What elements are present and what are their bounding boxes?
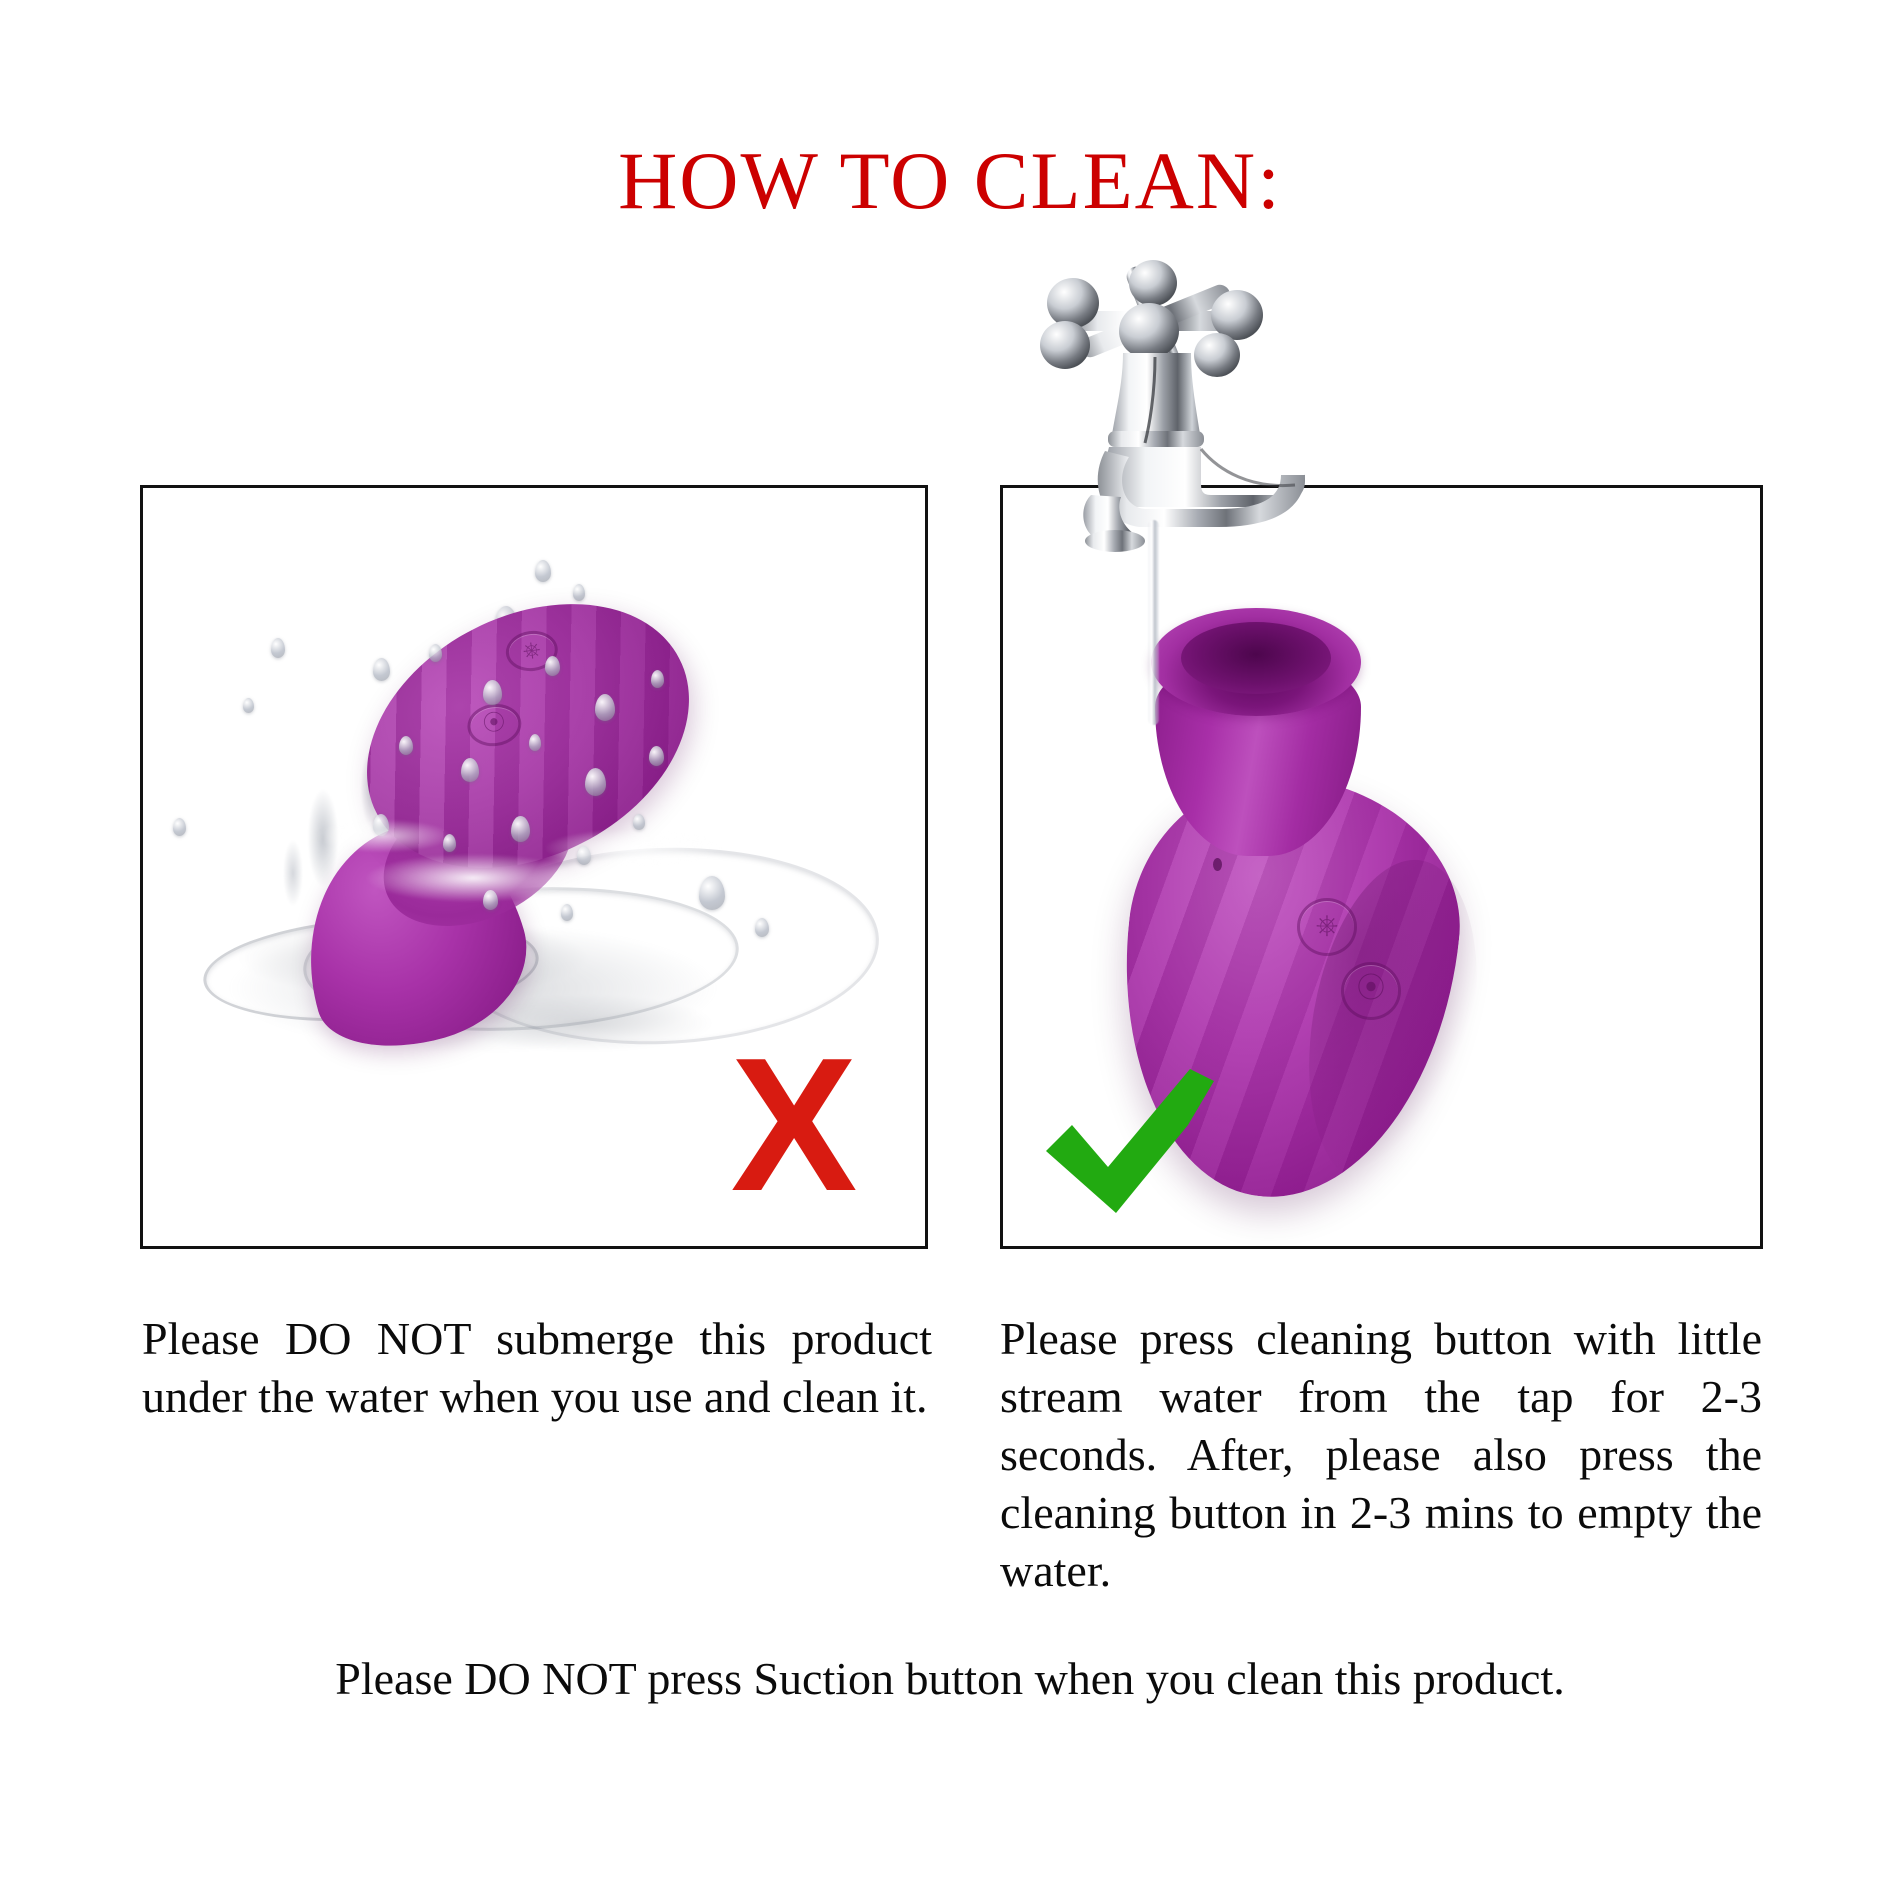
air-hole bbox=[1213, 858, 1222, 871]
water-droplet bbox=[461, 758, 479, 782]
water-drop-icon: ⦿ bbox=[1344, 975, 1398, 1003]
product-suction-cup-inner bbox=[1181, 622, 1331, 694]
water-droplet bbox=[545, 656, 560, 676]
power-button[interactable]: ⎈ bbox=[1297, 898, 1357, 956]
water-droplet bbox=[173, 818, 186, 836]
water-droplet bbox=[535, 560, 551, 582]
water-droplet bbox=[429, 644, 442, 662]
red-x-mark: X bbox=[691, 1036, 891, 1216]
water-droplet bbox=[373, 658, 390, 681]
faucet-icon bbox=[1005, 245, 1335, 575]
how-to-clean-page: HOW TO CLEAN: bbox=[0, 0, 1900, 1900]
caption-incorrect-usage: Please DO NOT submerge this product unde… bbox=[142, 1310, 932, 1426]
water-foam bbox=[293, 788, 773, 948]
panel-correct-usage: ⎈ ⦿ bbox=[1000, 485, 1763, 1249]
water-droplet bbox=[595, 694, 615, 721]
bottom-note: Please DO NOT press Suction button when … bbox=[0, 1650, 1900, 1708]
water-droplet bbox=[529, 734, 541, 751]
water-stream bbox=[1148, 520, 1159, 725]
water-droplet bbox=[399, 736, 413, 755]
caption-correct-usage: Please press cleaning button with little… bbox=[1000, 1310, 1762, 1600]
page-title: HOW TO CLEAN: bbox=[0, 140, 1900, 222]
caption-text: Please DO NOT submerge this product unde… bbox=[142, 1310, 932, 1426]
cleaning-button[interactable]: ⦿ bbox=[1341, 962, 1401, 1020]
panel-incorrect-usage: ⎈ ⦿ bbox=[140, 485, 928, 1249]
caption-text: Please press cleaning button with little… bbox=[1000, 1310, 1762, 1600]
water-droplet bbox=[651, 670, 664, 688]
power-icon: ⎈ bbox=[1300, 912, 1354, 940]
water-droplet bbox=[483, 680, 502, 705]
water-droplet bbox=[649, 746, 664, 766]
water-droplet bbox=[243, 698, 254, 713]
green-check-mark bbox=[1038, 1063, 1238, 1233]
